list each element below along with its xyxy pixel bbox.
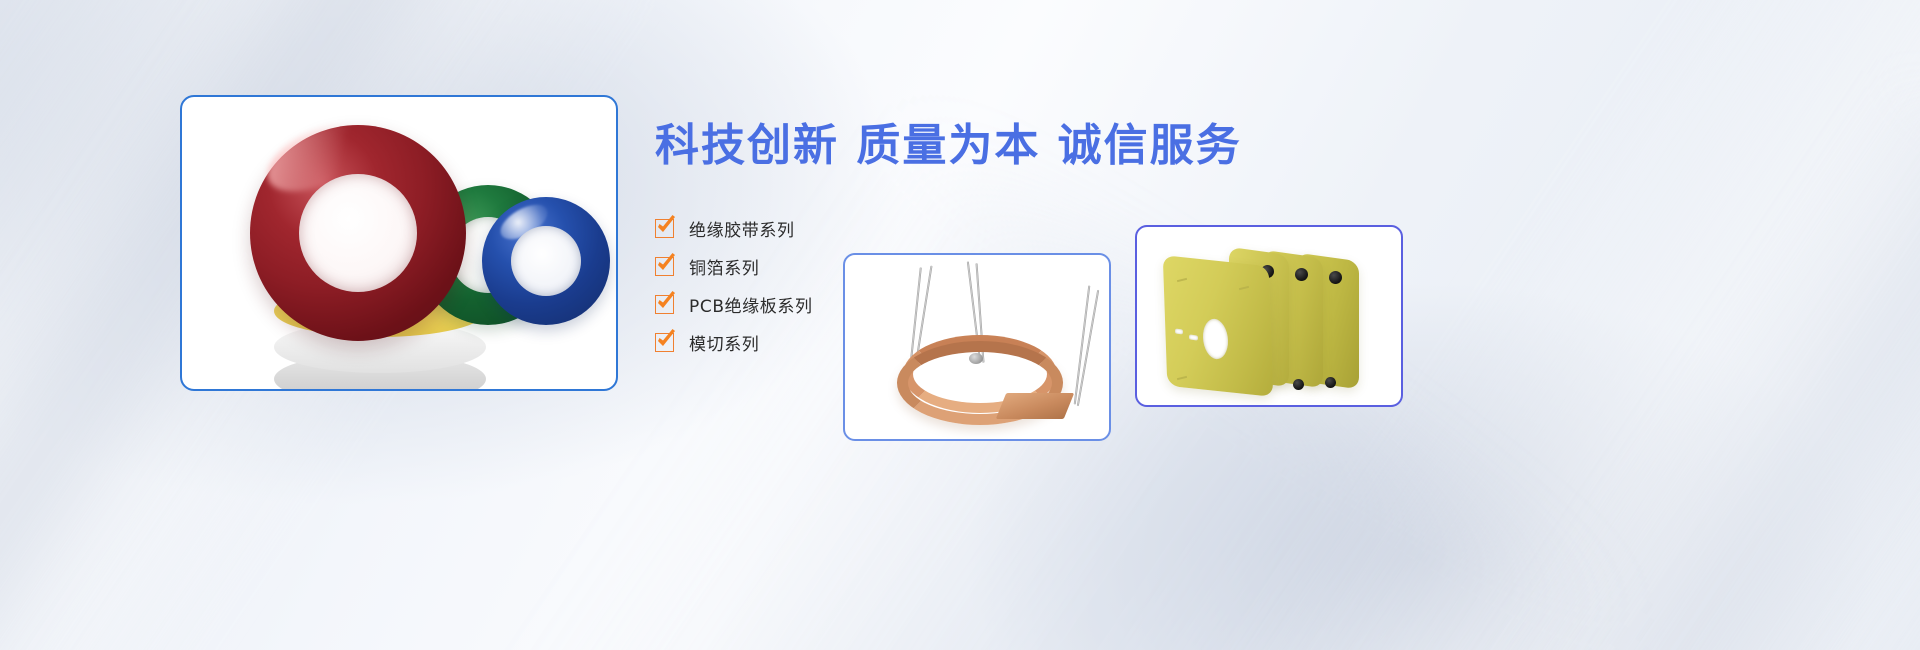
- feature-label: 绝缘胶带系列: [689, 216, 795, 241]
- product-card-insulation-tape[interactable]: [180, 95, 618, 391]
- tape-roll-red-highlight: [258, 111, 380, 205]
- checkbox-checked-icon: [655, 333, 674, 352]
- banner-copy: 科技创新 质量为本 诚信服务 绝缘胶带系列 铜箔系列 PCB绝缘板系列: [655, 120, 1275, 363]
- checkbox-checked-icon: [655, 219, 674, 238]
- feature-label: PCB绝缘板系列: [689, 292, 813, 317]
- board-screw: [1325, 377, 1336, 388]
- board-screw: [1329, 271, 1342, 284]
- tape-roll-red: [250, 125, 466, 341]
- feature-list: 绝缘胶带系列 铜箔系列 PCB绝缘板系列 模切系列: [655, 211, 1275, 361]
- tape-roll-blue: [482, 197, 610, 325]
- feature-item-4[interactable]: 模切系列: [655, 325, 1275, 361]
- checkbox-checked-icon: [655, 257, 674, 276]
- banner-headline: 科技创新 质量为本 诚信服务: [655, 120, 1275, 173]
- copper-foil-tail: [996, 393, 1075, 419]
- feature-item-3[interactable]: PCB绝缘板系列: [655, 287, 1275, 323]
- board-screw: [1293, 379, 1304, 390]
- feature-item-2[interactable]: 铜箔系列: [655, 249, 1275, 285]
- hero-banner: 科技创新 质量为本 诚信服务 绝缘胶带系列 铜箔系列 PCB绝缘板系列: [0, 0, 1920, 650]
- feature-label: 模切系列: [689, 330, 759, 355]
- feature-label: 铜箔系列: [689, 254, 759, 279]
- checkbox-checked-icon: [655, 295, 674, 314]
- board-screw: [1295, 268, 1308, 281]
- feature-item-1[interactable]: 绝缘胶带系列: [655, 211, 1275, 247]
- insulation-tape-image: [182, 97, 616, 389]
